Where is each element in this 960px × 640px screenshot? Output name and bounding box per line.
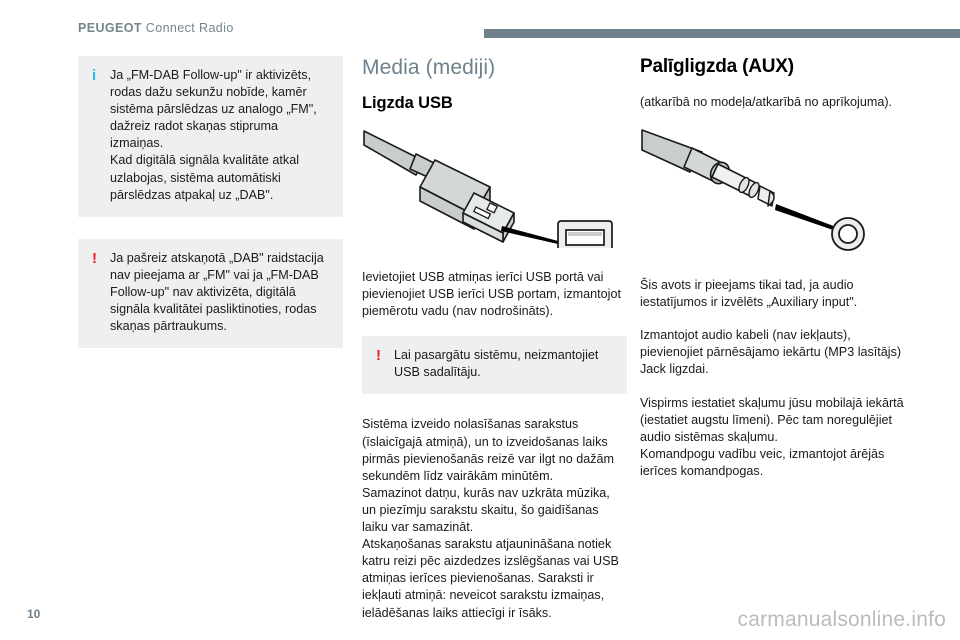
header-rule-bar <box>484 29 960 38</box>
section-title-media: Media (mediji) <box>362 56 627 80</box>
middle-column: Media (mediji) Ligzda USB <box>362 56 627 638</box>
usb-instructions-paragraph: Ievietojiet USB atmiņas ierīci USB portā… <box>362 269 627 320</box>
usb-illustration-svg <box>362 123 627 248</box>
right-column: Palīgligzda (AUX) (atkarībā no modeļa/at… <box>640 56 905 496</box>
header-title: PEUGEOT Connect Radio <box>78 21 234 35</box>
aux-volume-setup-paragraph: Vispirms iestatiet skaļumu jūsu mobilajā… <box>640 395 905 480</box>
header-brand: PEUGEOT <box>78 21 142 35</box>
aux-cable-connection-paragraph: Izmantojot audio kabeli (nav iekļauts), … <box>640 327 905 378</box>
warning-callout-text: Ja pašreiz atskaņotā „DAB" raidstacija n… <box>110 250 329 335</box>
aux-illustration-svg <box>640 124 905 256</box>
subsection-title-usb-socket: Ligzda USB <box>362 94 627 113</box>
aux-source-availability-paragraph: Šis avots ir pieejams tikai tad, ja audi… <box>640 277 905 311</box>
section-title-aux-socket: Palīgligzda (AUX) <box>640 56 905 78</box>
warning-callout-dab-unavailable: ! Ja pašreiz atskaņotā „DAB" raidstacija… <box>78 239 343 348</box>
aux-jack-plug-and-socket-illustration <box>640 124 905 261</box>
warning-exclamation-icon: ! <box>92 250 106 267</box>
info-callout-text: Ja „FM-DAB Follow-up" ir aktivizēts, rod… <box>110 67 329 204</box>
info-callout-fm-dab-follow-up: i Ja „FM-DAB Follow-up" ir aktivizēts, r… <box>78 56 343 217</box>
warning-callout-no-usb-hub: ! Lai pasargātu sistēmu, neizmantojiet U… <box>362 336 627 394</box>
warning-exclamation-icon: ! <box>376 347 390 364</box>
page-header: PEUGEOT Connect Radio <box>0 0 960 48</box>
usb-playlist-paragraph: Sistēma izveido nolasīšanas sarakstus (ī… <box>362 416 627 621</box>
warning-callout-text: Lai pasargātu sistēmu, neizmantojiet USB… <box>394 347 613 381</box>
information-icon: i <box>92 67 106 84</box>
aux-availability-note: (atkarībā no modeļa/atkarībā no aprīkoju… <box>640 94 905 111</box>
page-number: 10 <box>27 607 40 621</box>
usb-cable-and-port-illustration <box>362 123 627 253</box>
site-watermark: carmanualsonline.info <box>738 608 947 632</box>
header-title-rest: Connect Radio <box>142 21 234 35</box>
left-column: i Ja „FM-DAB Follow-up" ir aktivizēts, r… <box>78 56 343 370</box>
